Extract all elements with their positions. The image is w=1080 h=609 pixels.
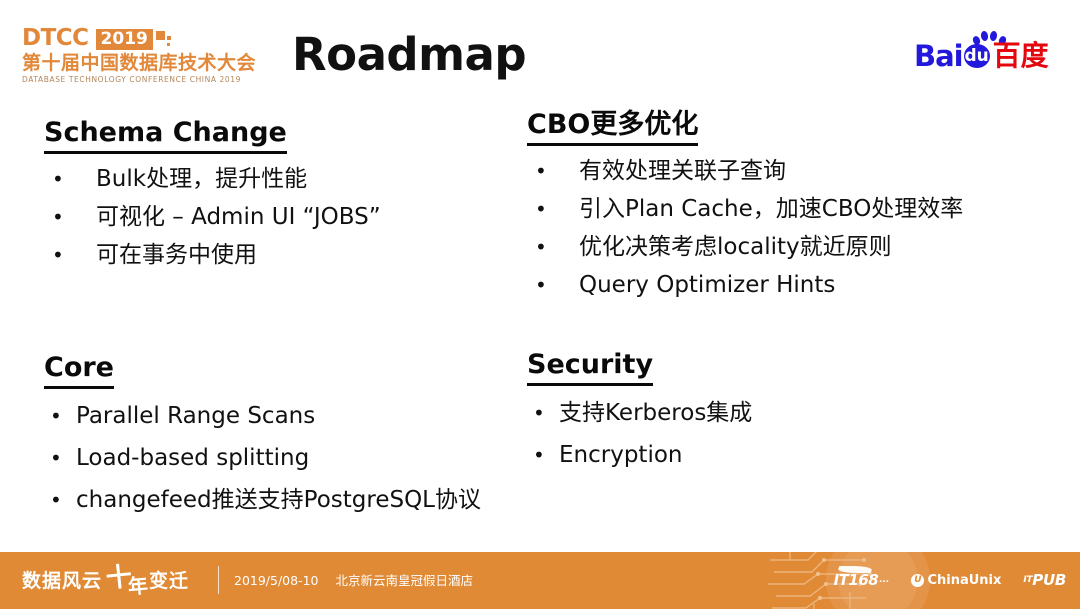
bullet-icon: • (535, 228, 543, 266)
slide-header: DTCC 2019 第十届中国数据库技术大会 DATABASE TECHNOLO… (0, 0, 1080, 105)
footer-date: 2019/5/08-10 (234, 573, 319, 588)
bullet-icon: • (535, 190, 543, 228)
bullet-icon: • (535, 152, 543, 190)
list-item-label: Load-based splitting (76, 437, 309, 479)
section-heading: Schema Change (44, 116, 287, 154)
bullet-icon: • (533, 436, 541, 474)
dtcc-year-badge: 2019 (96, 29, 153, 50)
bullet-icon: • (52, 236, 60, 274)
list-item-label: 可在事务中使用 (96, 236, 257, 274)
footer-brand-left: 数据风云 (22, 569, 102, 593)
section-heading: Security (527, 348, 653, 386)
bullet-icon: • (50, 439, 58, 477)
it168-logo: IT168 ... (834, 571, 890, 589)
list-item: • 优化决策考虑locality就近原则 (527, 228, 1037, 266)
baidu-logo: Bai du 百度 (914, 34, 1064, 78)
bullet-icon: • (50, 397, 58, 435)
list-item: • changefeed推送支持PostgreSQL协议 (44, 479, 514, 521)
list-item: • Parallel Range Scans (44, 395, 514, 437)
section-schema-change: Schema Change • Bulk处理，提升性能 • 可视化 – Admi… (44, 116, 514, 274)
list-item: • 可视化 – Admin UI “JOBS” (44, 198, 514, 236)
list-item-label: Query Optimizer Hints (579, 267, 835, 303)
slide-root: DTCC 2019 第十届中国数据库技术大会 DATABASE TECHNOLO… (0, 0, 1080, 609)
footer-brand-right: 变迁 (149, 569, 189, 593)
baidu-bai-text: Bai (914, 40, 963, 72)
bullet-icon: • (533, 394, 541, 432)
list-item-label: 引入Plan Cache，加速CBO处理效率 (579, 191, 963, 227)
section-heading: Core (44, 351, 114, 389)
slide-footer: 数据风云 十 年 变迁 2019/5/08-10 北京新云南皇冠假日酒店 IT1… (0, 552, 1080, 609)
chinaunix-label: ChinaUnix (927, 573, 1001, 588)
bullet-icon: • (535, 266, 543, 304)
list-item: • 有效处理关联子查询 (527, 152, 1037, 190)
bullet-list-core: • Parallel Range Scans • Load-based spli… (44, 395, 514, 521)
it168-label: IT168 (834, 571, 879, 589)
dtcc-logo-top-row: DTCC 2019 (22, 26, 222, 50)
footer-brand-nian: 年 (127, 573, 149, 599)
section-core: Core • Parallel Range Scans • Load-based… (44, 351, 514, 521)
list-item-label: changefeed推送支持PostgreSQL协议 (76, 479, 481, 521)
itpub-label-big: PUB (1032, 574, 1066, 586)
footer-venue: 北京新云南皇冠假日酒店 (335, 573, 473, 588)
dtcc-acronym: DTCC (22, 27, 89, 50)
slide-body: Schema Change • Bulk处理，提升性能 • 可视化 – Admi… (0, 108, 1080, 538)
list-item: • 引入Plan Cache，加速CBO处理效率 (527, 190, 1037, 228)
it168-suffix: ... (879, 575, 889, 585)
footer-event-info: 2019/5/08-10 北京新云南皇冠假日酒店 (234, 572, 473, 589)
itpub-logo: ITPUB (1023, 574, 1066, 586)
section-heading: CBO更多优化 (527, 108, 698, 146)
baidu-wordmark: Bai du 百度 (914, 40, 1049, 72)
list-item: • 支持Kerberos集成 (527, 392, 997, 434)
bullet-list-cbo: • 有效处理关联子查询 • 引入Plan Cache，加速CBO处理效率 • 优… (527, 152, 1037, 304)
page-title: Roadmap (292, 27, 526, 83)
bullet-icon: • (50, 481, 58, 519)
bullet-list-schema-change: • Bulk处理，提升性能 • 可视化 – Admin UI “JOBS” • … (44, 160, 514, 274)
section-cbo: CBO更多优化 • 有效处理关联子查询 • 引入Plan Cache，加速CBO… (527, 108, 1037, 304)
list-item: • Load-based splitting (44, 437, 514, 479)
list-item: • 可在事务中使用 (44, 236, 514, 274)
list-item-label: 有效处理关联子查询 (579, 153, 786, 189)
chinaunix-logo: U ChinaUnix (911, 573, 1001, 588)
list-item-label: 可视化 – Admin UI “JOBS” (96, 198, 381, 236)
footer-sponsor-logos: IT168 ... U ChinaUnix ITPUB (834, 568, 1066, 592)
list-item-label: Parallel Range Scans (76, 395, 315, 437)
bullet-icon: • (52, 160, 60, 198)
list-item: • Encryption (527, 434, 997, 476)
chinaunix-mark-icon: U (911, 574, 924, 587)
dtcc-square-decor-icon (156, 29, 174, 50)
bullet-list-security: • 支持Kerberos集成 • Encryption (527, 392, 997, 476)
dtcc-english-name: DATABASE TECHNOLOGY CONFERENCE CHINA 201… (22, 75, 222, 85)
footer-divider (218, 566, 219, 594)
itpub-label-small: IT (1023, 574, 1032, 586)
baidu-du-badge: du (964, 44, 990, 68)
list-item-label: Encryption (559, 434, 682, 476)
list-item-label: 优化决策考虑locality就近原则 (579, 229, 892, 265)
list-item: • Query Optimizer Hints (527, 266, 1037, 304)
dtcc-conference-logo: DTCC 2019 第十届中国数据库技术大会 DATABASE TECHNOLO… (22, 26, 222, 88)
footer-brand: 数据风云 十 年 变迁 (22, 566, 189, 596)
baidu-chinese-text: 百度 (993, 40, 1049, 72)
list-item-label: 支持Kerberos集成 (559, 392, 752, 434)
dtcc-chinese-name: 第十届中国数据库技术大会 (22, 52, 222, 74)
list-item: • Bulk处理，提升性能 (44, 160, 514, 198)
list-item-label: Bulk处理，提升性能 (96, 160, 307, 198)
section-security: Security • 支持Kerberos集成 • Encryption (527, 348, 997, 476)
bullet-icon: • (52, 198, 60, 236)
